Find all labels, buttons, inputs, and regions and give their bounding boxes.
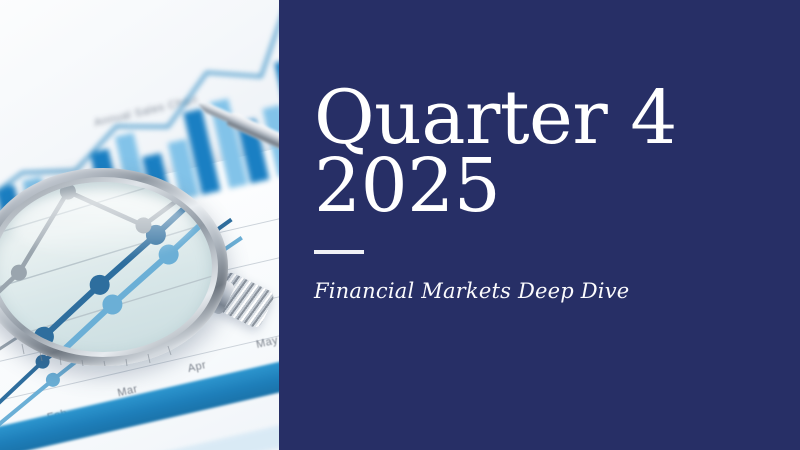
magnifier-lens [0,182,212,352]
page-subtitle: Financial Markets Deep Dive [314,279,762,303]
magnifier-bezel [0,168,228,366]
title-slide: Annual Sales Chart [0,0,800,450]
magnifier-lens-content [0,182,212,352]
title-divider [314,250,364,254]
page-title: Quarter 4 2025 [314,84,762,220]
cover-photo: Annual Sales Chart [0,0,280,450]
title-block: Quarter 4 2025 Financial Markets Deep Di… [314,84,762,303]
title-panel: Quarter 4 2025 Financial Markets Deep Di… [279,0,800,450]
magnifying-glass-icon [0,168,240,386]
